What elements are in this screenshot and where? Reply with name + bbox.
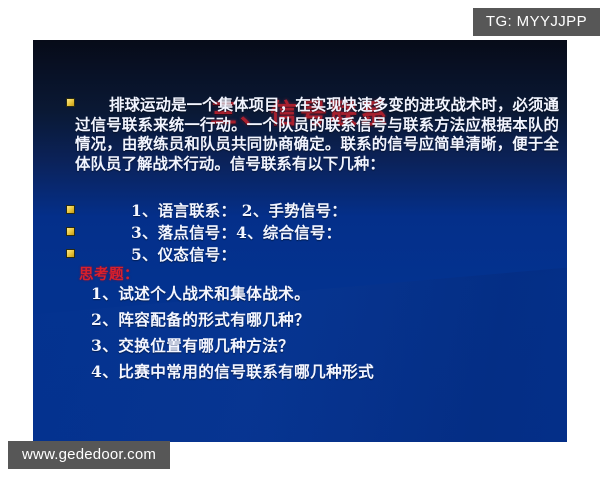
list-item: 5、仪态信号： <box>131 243 236 265</box>
question-item: 1、试述个人战术和集体战术。 <box>91 282 310 304</box>
bullet-square-icon-paragraph <box>66 98 75 107</box>
list-item: 3、落点信号：4、综合信号： <box>131 221 341 243</box>
list-item: 1、语言联系： 2、手势信号： <box>131 199 347 221</box>
question-item: 4、比赛中常用的信号联系有哪几种形式 <box>91 360 374 382</box>
think-question-heading: 思考题： <box>79 263 139 284</box>
presentation-slide: 三、信号联系 排球运动是一个集体项目，在实现快速多变的进攻战术时，必须通过信号联… <box>33 40 567 442</box>
bullet-square-icon-list-1 <box>66 205 75 214</box>
question-item: 3、交换位置有哪几种方法？ <box>91 334 294 356</box>
watermark-bottom-left: www.gededoor.com <box>8 441 170 469</box>
slide-paragraph: 排球运动是一个集体项目，在实现快速多变的进攻战术时，必须通过信号联系来统一行动。… <box>75 96 559 174</box>
bullet-square-icon-list-2 <box>66 227 75 236</box>
question-item: 2、阵容配备的形式有哪几种？ <box>91 308 310 330</box>
watermark-top-right: TG: MYYJJPP <box>473 8 600 36</box>
slide-body: 排球运动是一个集体项目，在实现快速多变的进攻战术时，必须通过信号联系来统一行动。… <box>33 40 567 442</box>
page-canvas: 三、信号联系 排球运动是一个集体项目，在实现快速多变的进攻战术时，必须通过信号联… <box>0 0 600 480</box>
bullet-square-icon-list-3 <box>66 249 75 258</box>
